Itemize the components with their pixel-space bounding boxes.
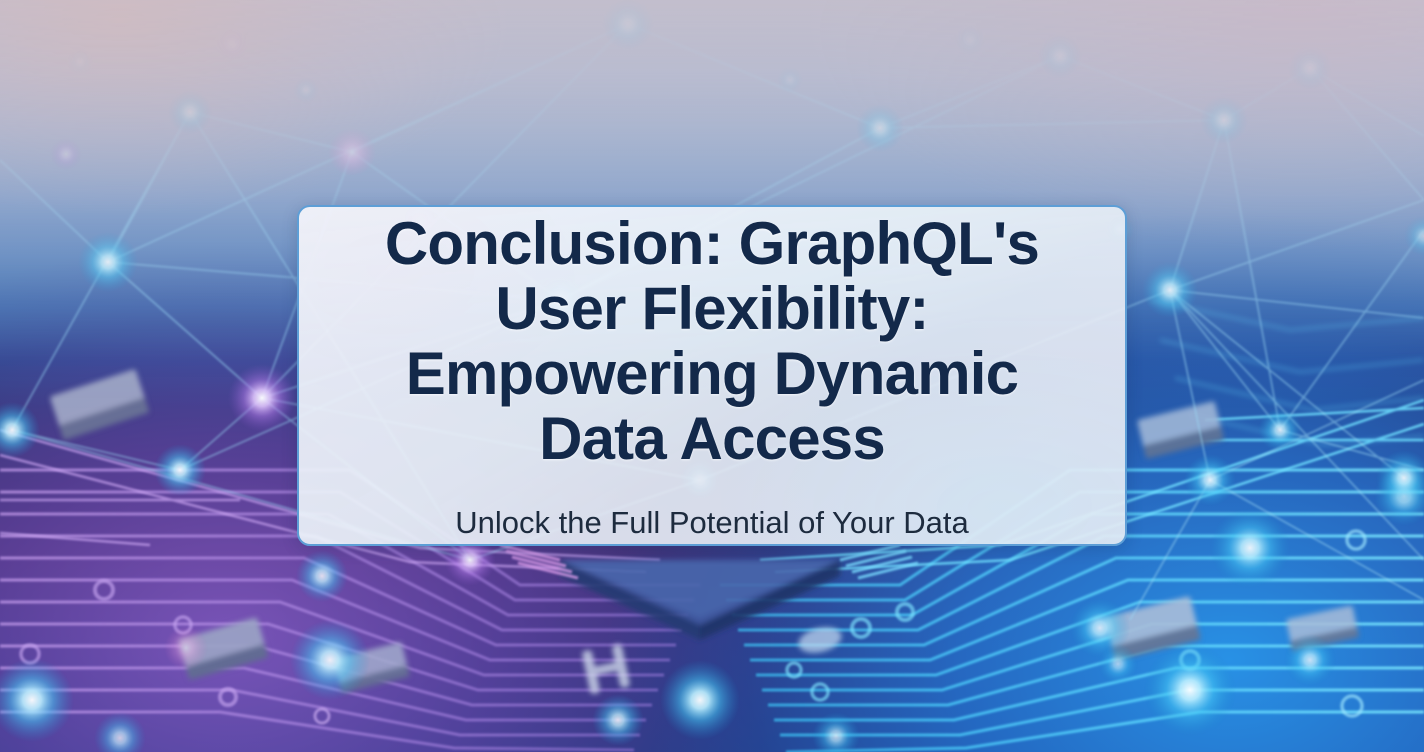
slide-canvas: Conclusion: GraphQL's User Flexibility: …	[0, 0, 1424, 752]
title-card: Conclusion: GraphQL's User Flexibility: …	[297, 205, 1127, 546]
page-title: Conclusion: GraphQL's User Flexibility: …	[316, 211, 1108, 471]
page-subtitle: Unlock the Full Potential of Your Data	[455, 505, 969, 541]
